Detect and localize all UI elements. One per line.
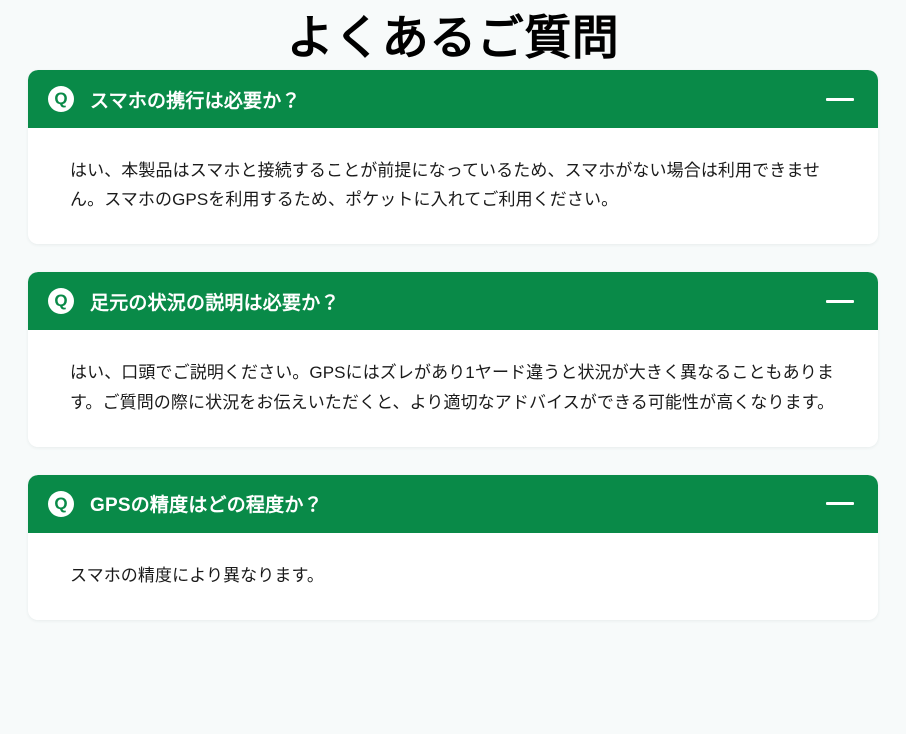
minus-icon[interactable] xyxy=(826,300,854,303)
minus-icon[interactable] xyxy=(826,98,854,101)
faq-answer-panel-1: はい、口頭でご説明ください。GPSにはズレがあり1ヤード違うと状況が大きく異なる… xyxy=(28,330,878,446)
faq-question-label: GPSの精度はどの程度か？ xyxy=(90,490,814,517)
faq-accordion-list: Q スマホの携行は必要か？ はい、本製品はスマホと接続することが前提になっている… xyxy=(28,70,878,620)
faq-item: Q 足元の状況の説明は必要か？ はい、口頭でご説明ください。GPSにはズレがあり… xyxy=(28,272,878,446)
faq-answer-text: はい、本製品はスマホと接続することが前提になっているため、スマホがない場合は利用… xyxy=(70,156,836,214)
faq-page: よくあるご質問 Q スマホの携行は必要か？ はい、本製品はスマホと接続することが… xyxy=(0,0,906,734)
faq-answer-text: はい、口頭でご説明ください。GPSにはズレがあり1ヤード違うと状況が大きく異なる… xyxy=(70,358,836,416)
faq-header-0[interactable]: Q スマホの携行は必要か？ xyxy=(28,70,878,128)
question-badge-icon: Q xyxy=(48,491,74,517)
faq-answer-panel-0: はい、本製品はスマホと接続することが前提になっているため、スマホがない場合は利用… xyxy=(28,128,878,244)
question-badge-icon: Q xyxy=(48,86,74,112)
faq-answer-text: スマホの精度により異なります。 xyxy=(70,561,836,590)
question-badge-icon: Q xyxy=(48,288,74,314)
faq-item: Q スマホの携行は必要か？ はい、本製品はスマホと接続することが前提になっている… xyxy=(28,70,878,244)
faq-question-label: スマホの携行は必要か？ xyxy=(90,86,814,113)
page-title: よくあるご質問 xyxy=(0,0,906,70)
minus-icon[interactable] xyxy=(826,502,854,505)
faq-question-label: 足元の状況の説明は必要か？ xyxy=(90,288,814,315)
faq-header-1[interactable]: Q 足元の状況の説明は必要か？ xyxy=(28,272,878,330)
faq-item: Q GPSの精度はどの程度か？ スマホの精度により異なります。 xyxy=(28,475,878,620)
faq-answer-panel-2: スマホの精度により異なります。 xyxy=(28,533,878,620)
faq-header-2[interactable]: Q GPSの精度はどの程度か？ xyxy=(28,475,878,533)
